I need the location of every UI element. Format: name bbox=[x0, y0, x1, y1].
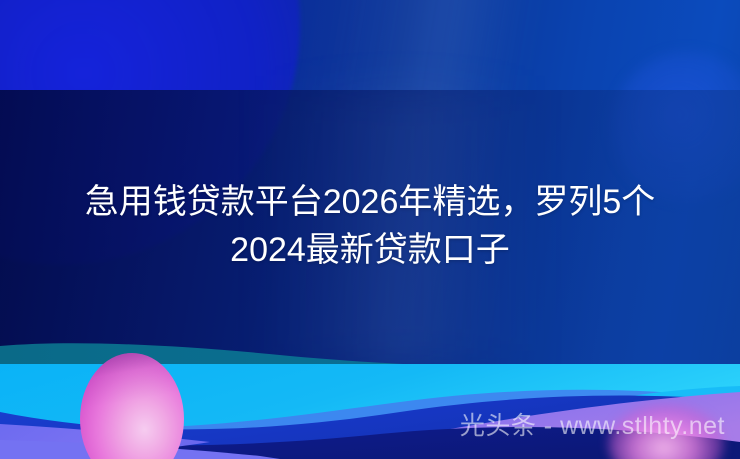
banner-title: 急用钱贷款平台2026年精选，罗列5个 2024最新贷款口子 bbox=[0, 178, 740, 274]
site-watermark: 光头条 - www.stlhty.net bbox=[0, 410, 740, 442]
banner-image: 急用钱贷款平台2026年精选，罗列5个 2024最新贷款口子 光头条 - www… bbox=[0, 0, 740, 459]
banner-title-line-1: 急用钱贷款平台2026年精选，罗列5个 bbox=[0, 178, 740, 226]
banner-title-line-2: 2024最新贷款口子 bbox=[0, 226, 740, 274]
